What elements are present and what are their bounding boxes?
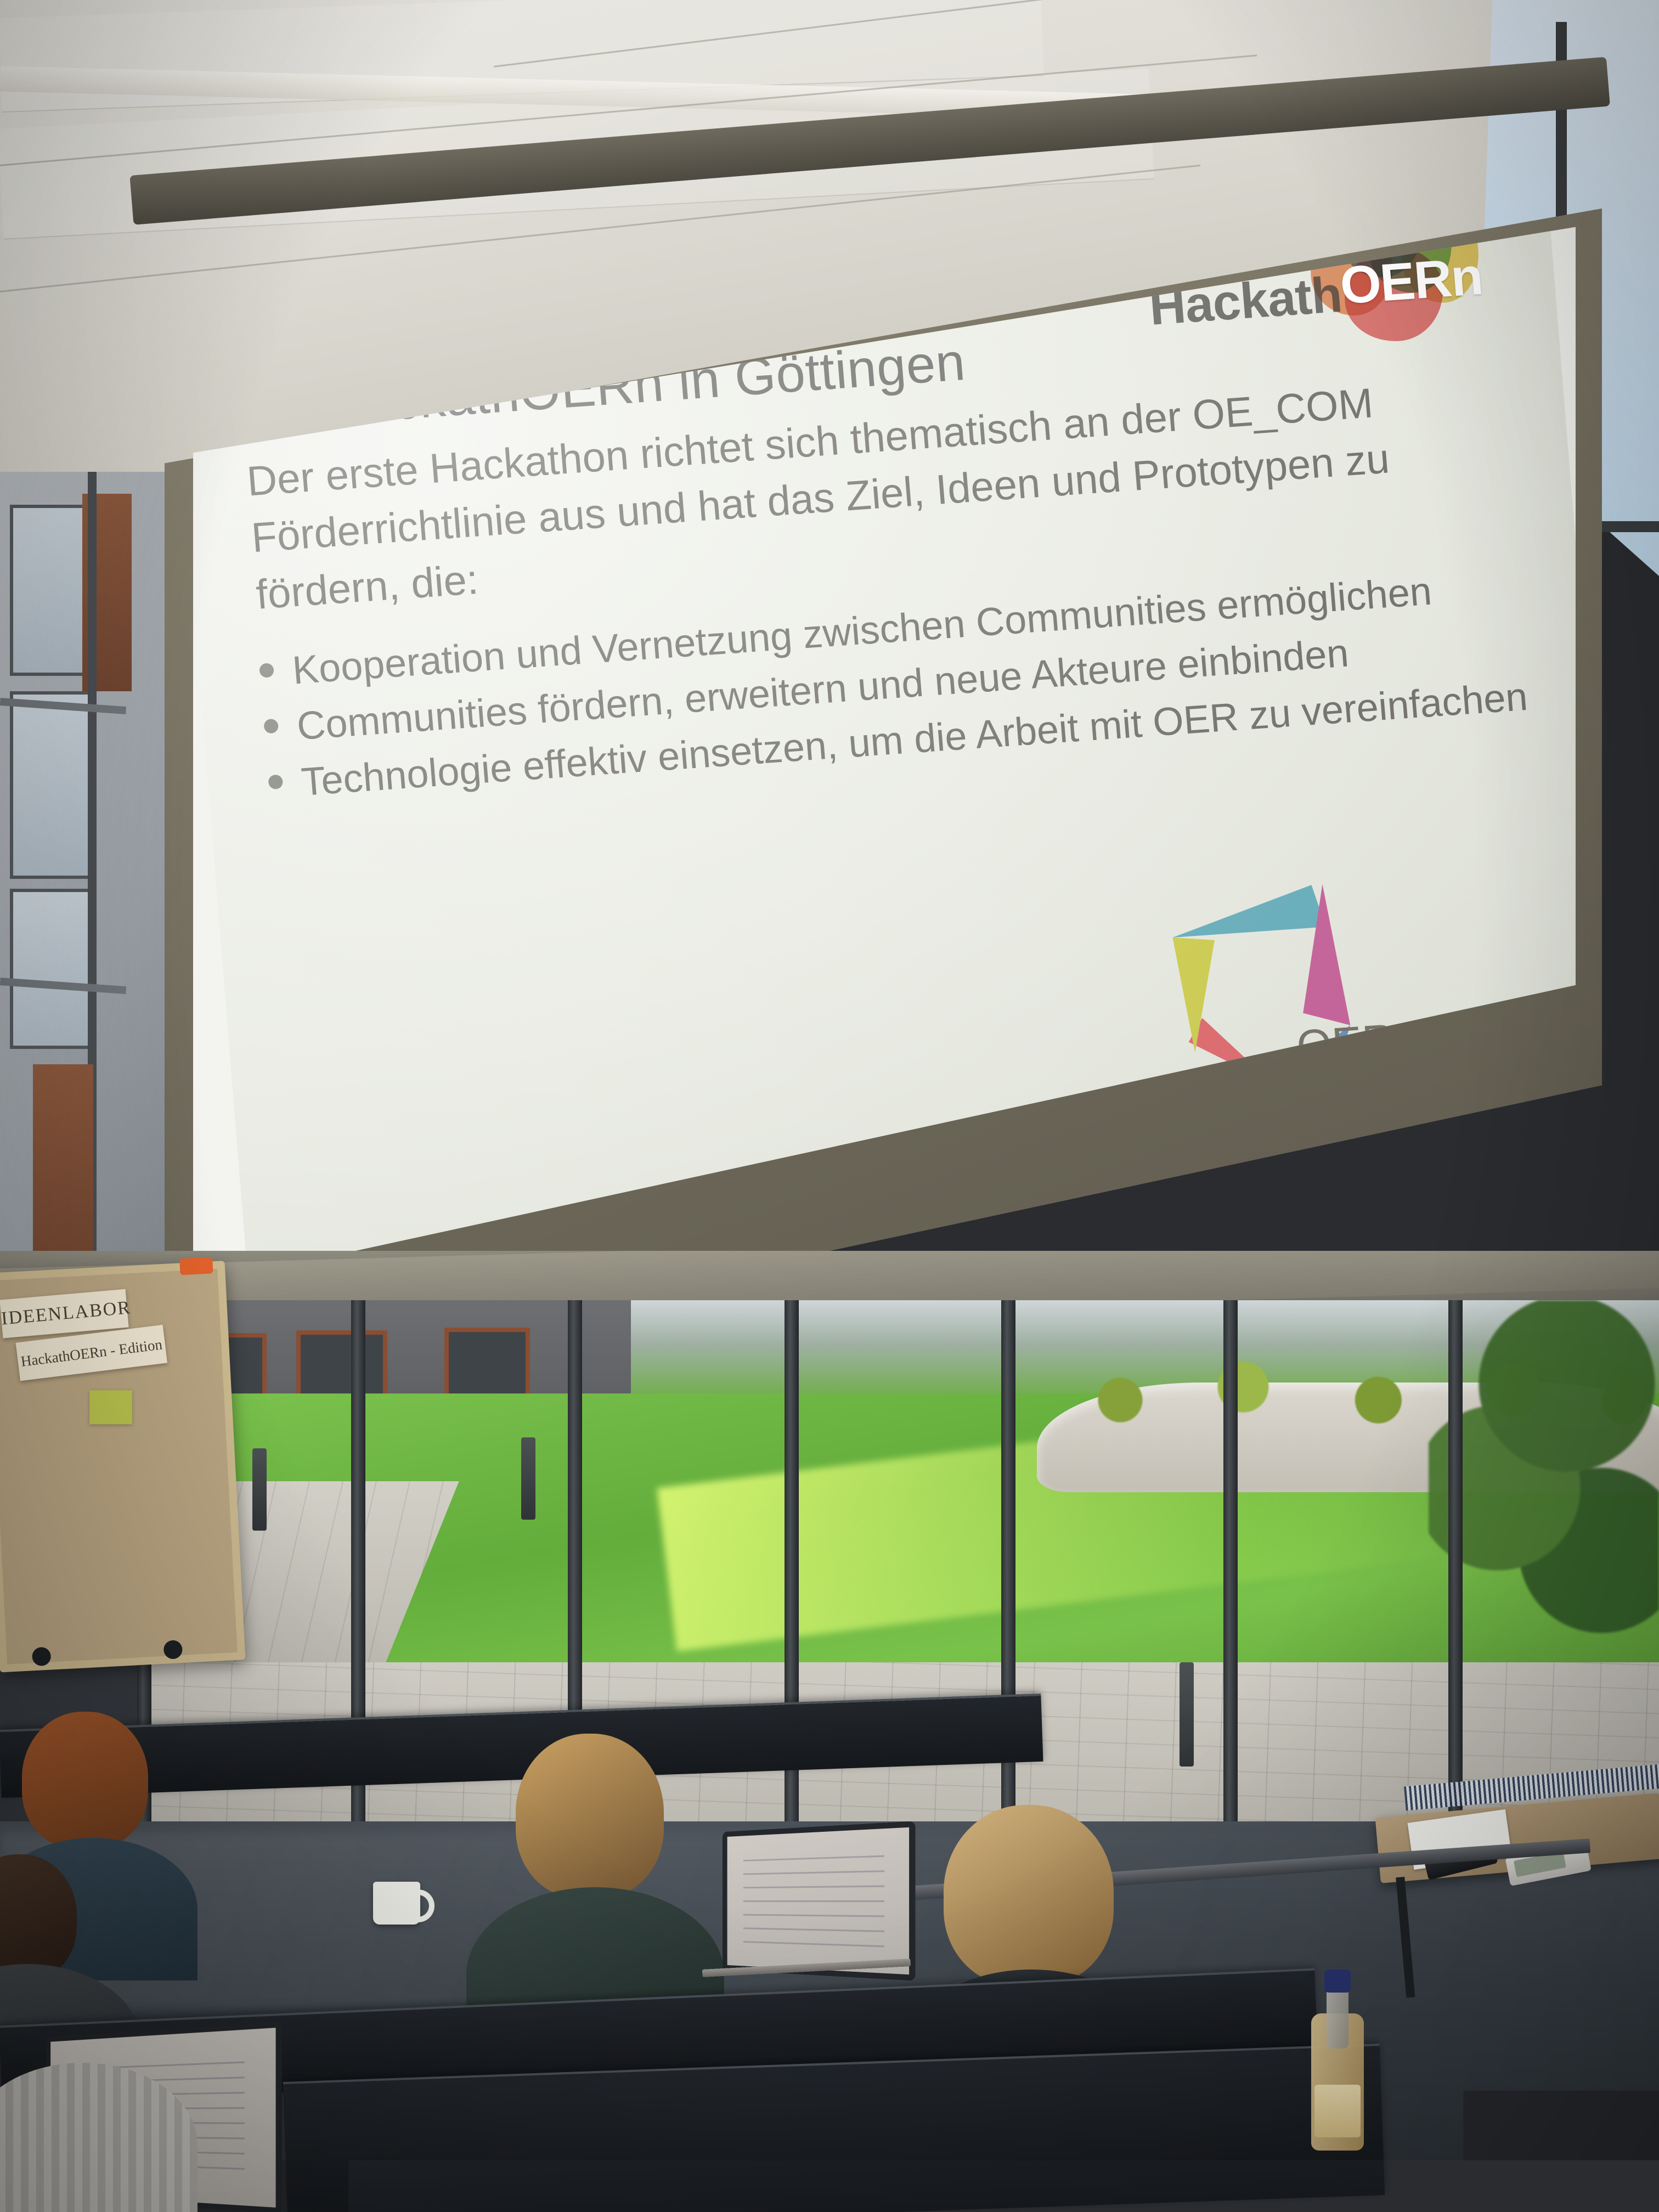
desk-leg xyxy=(1396,1877,1415,1998)
window-mullion xyxy=(1448,1300,1463,1857)
bottle-cap xyxy=(1324,1970,1351,1993)
person-head xyxy=(516,1734,664,1898)
beverage-bottle[interactable] xyxy=(1311,1970,1364,2151)
pinboard-corner-clip xyxy=(179,1257,213,1275)
bullet-dot-icon xyxy=(268,775,283,790)
left-window-pane xyxy=(10,505,93,676)
laptop-screen-content xyxy=(743,1852,884,1953)
coffee-mug[interactable] xyxy=(373,1882,420,1925)
pinboard-sticky-note xyxy=(89,1390,132,1424)
window-mullion xyxy=(785,1300,799,1857)
path-bollard xyxy=(1180,1662,1194,1767)
logo-triangle-teal xyxy=(1169,884,1326,938)
left-window-pane xyxy=(10,889,93,1049)
left-window-wall xyxy=(0,472,176,1328)
path-bollard xyxy=(521,1437,535,1520)
window-mullion xyxy=(1223,1300,1238,1857)
pinboard: IDEENLABOR HackathOERn - Edition xyxy=(0,1261,229,1657)
laptop-screen[interactable] xyxy=(723,1821,915,1980)
bottle-label xyxy=(1314,2085,1361,2137)
path-bollard xyxy=(252,1448,267,1531)
bottle-neck xyxy=(1327,1983,1348,2049)
person-head xyxy=(22,1712,148,1849)
presenter-desk xyxy=(1375,1793,1659,1998)
bullet-dot-icon xyxy=(259,663,274,678)
window-mullion xyxy=(1001,1300,1015,1857)
person-head xyxy=(944,1805,1114,1986)
courtyard-tree xyxy=(1429,1300,1659,1717)
bullet-dot-icon xyxy=(263,719,279,734)
left-window-pane xyxy=(10,691,93,879)
lecture-hall-photo: Hackath OERn 1.HackathOERn in Göttingen xyxy=(0,0,1659,2212)
